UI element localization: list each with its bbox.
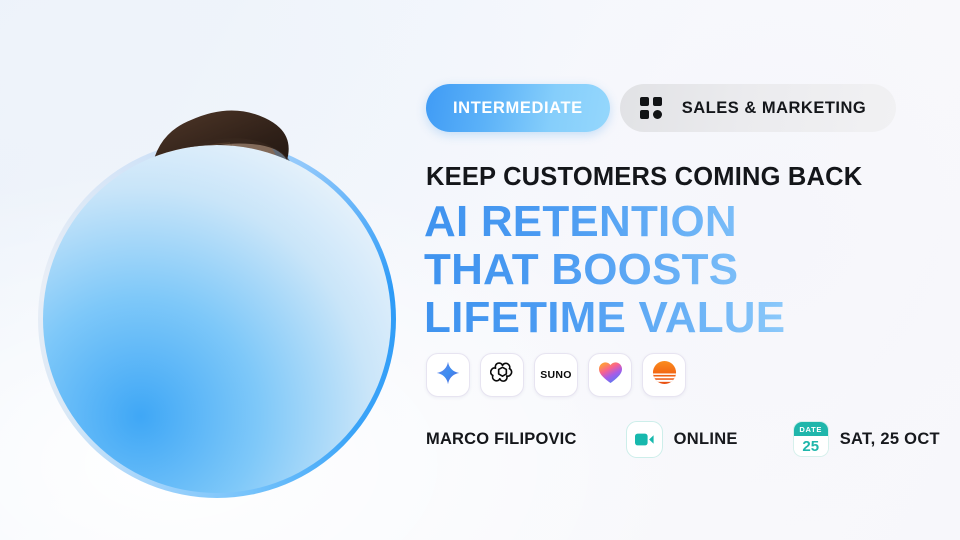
tool-chip-luma[interactable] <box>588 353 632 397</box>
badge-row: INTERMEDIATE SALES & MARKETING <box>426 84 896 132</box>
page-title-line-2: THAT BOOSTS <box>424 246 785 294</box>
gemini-sparkle-icon <box>436 361 460 390</box>
luma-heart-icon <box>598 361 623 389</box>
level-badge[interactable]: INTERMEDIATE <box>426 84 610 132</box>
poster-canvas: INTERMEDIATE SALES & MARKETING KEEP CUST… <box>0 0 960 540</box>
level-badge-label: INTERMEDIATE <box>453 99 583 118</box>
event-date-label: SAT, 25 OCT <box>840 430 940 449</box>
grid-four-icon <box>640 97 662 119</box>
tool-chip-gemini[interactable] <box>426 353 470 397</box>
page-eyebrow: KEEP CUSTOMERS COMING BACK <box>426 163 862 192</box>
category-badge-label: SALES & MARKETING <box>682 99 867 118</box>
tool-chip-openai[interactable] <box>480 353 524 397</box>
event-date: DATE 25 SAT, 25 OCT <box>793 421 940 457</box>
event-mode: ONLINE <box>626 421 738 458</box>
page-title: AI RETENTION THAT BOOSTS LIFETIME VALUE <box>424 198 785 342</box>
midjourney-sunset-icon <box>652 360 677 390</box>
calendar-icon-day: 25 <box>794 436 828 456</box>
page-title-line-3: LIFETIME VALUE <box>424 294 785 342</box>
page-title-line-1: AI RETENTION <box>424 198 785 246</box>
tool-icon-row: SUNO <box>426 353 686 397</box>
speaker-portrait <box>38 60 398 500</box>
calendar-icon-top: DATE <box>794 422 828 436</box>
speaker-name: MARCO FILIPOVIC <box>426 430 577 449</box>
category-badge[interactable]: SALES & MARKETING <box>620 84 897 132</box>
suno-icon: SUNO <box>540 369 572 381</box>
openai-icon <box>490 360 515 390</box>
poster-content: INTERMEDIATE SALES & MARKETING KEEP CUST… <box>426 0 960 540</box>
event-meta-row: MARCO FILIPOVIC ONLINE DATE 25 SAT, 25 O… <box>426 420 940 458</box>
tool-chip-sunset[interactable] <box>642 353 686 397</box>
portrait-disc <box>43 145 391 493</box>
tool-chip-suno[interactable]: SUNO <box>534 353 578 397</box>
video-camera-icon <box>626 421 663 458</box>
calendar-icon: DATE 25 <box>793 421 829 457</box>
event-mode-label: ONLINE <box>674 430 738 449</box>
